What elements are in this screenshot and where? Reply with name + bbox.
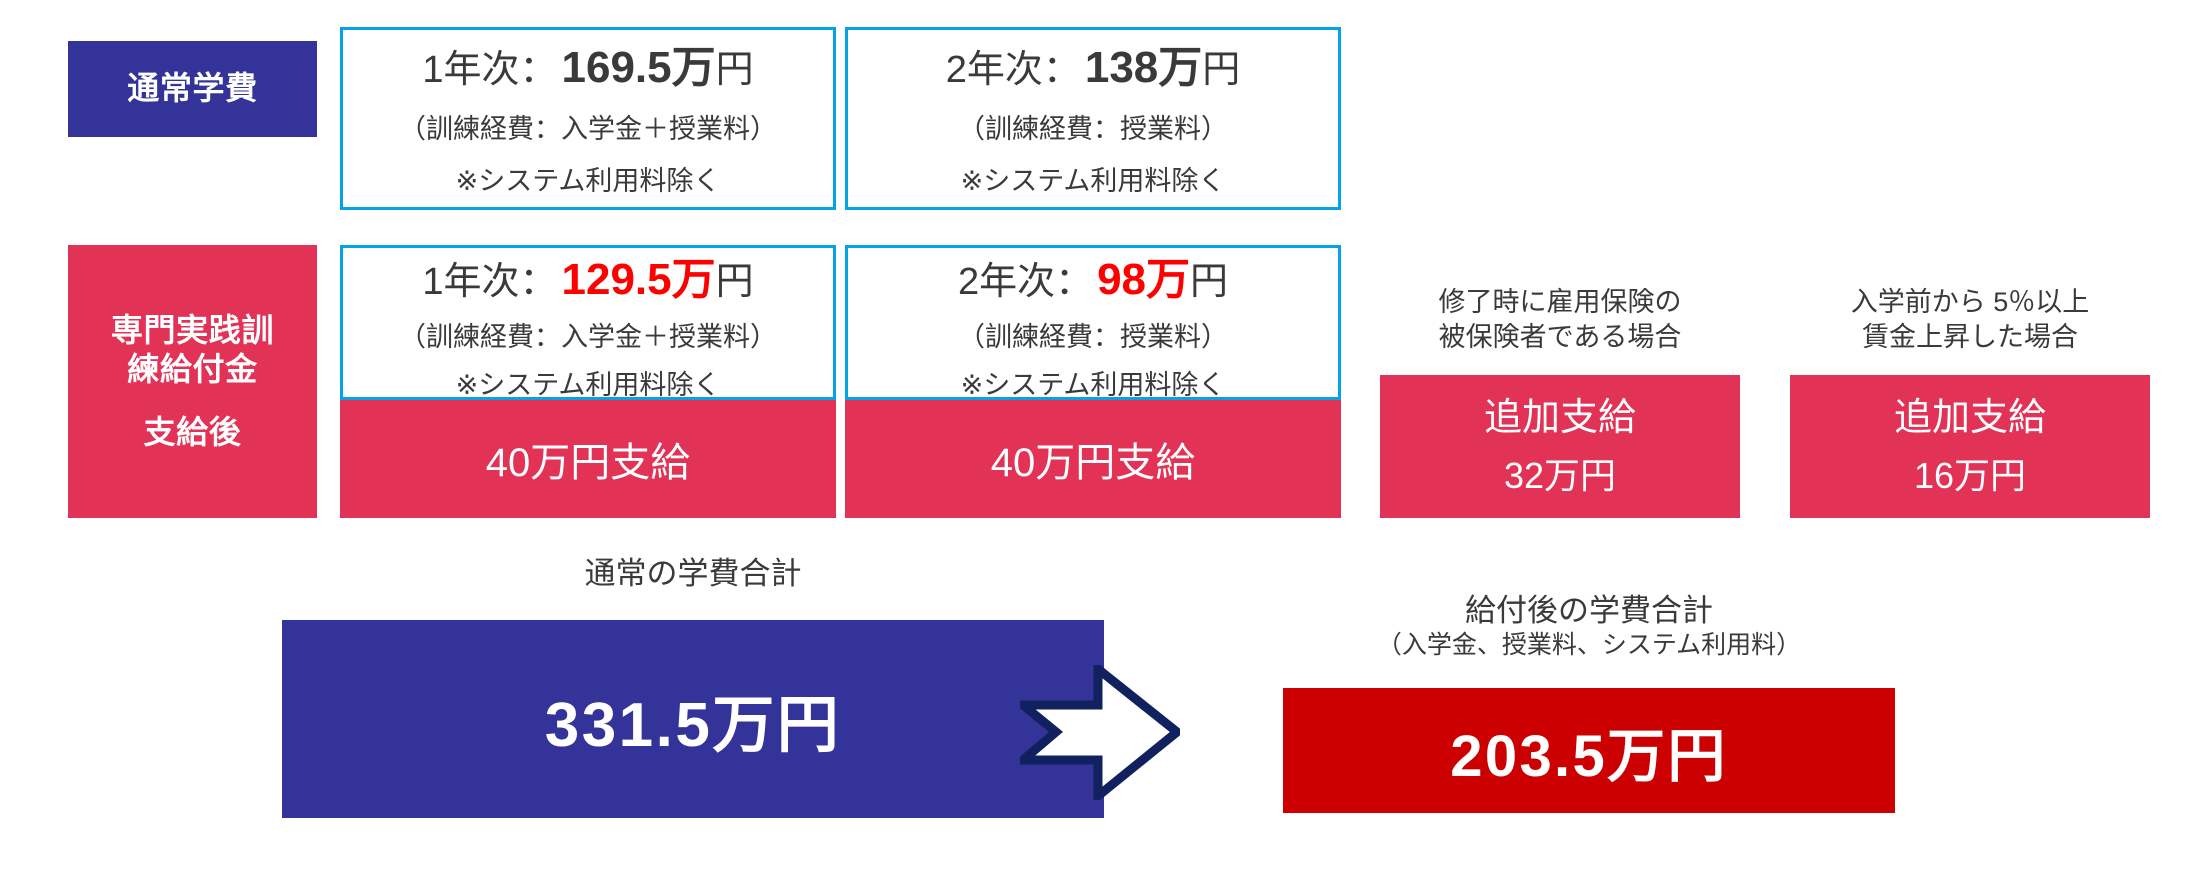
total-caption-before-text: 通常の学費合計 [585, 556, 802, 591]
right-arrow-icon [1020, 665, 1180, 800]
fee-card-headline: 1年次：169.5万円 [422, 46, 753, 90]
bonus-caption-wage-increase: 入学前から 5％以上 賃金上昇した場合 [1790, 285, 2150, 355]
total-caption-after: 給付後の学費合計 （入学金、授業料、システム利用料） [1283, 592, 1895, 660]
fee-exclusion-note: ※システム利用料除く [961, 372, 1226, 399]
fee-yen-unit: 円 [1202, 51, 1240, 89]
bonus-caption-employment-insurance: 修了時に雇用保険の 被保険者である場合 [1380, 285, 1740, 355]
fee-breakdown-text: （訓練経費：授業料） [958, 324, 1228, 351]
fee-year-label: 1年次： [422, 51, 557, 89]
row-label-line: 練給付金 [127, 350, 258, 389]
fee-year-label: 2年次： [958, 263, 1093, 301]
fee-card-headline: 2年次：138万円 [946, 46, 1241, 90]
fee-exclusion-note: ※システム利用料除く [456, 372, 721, 399]
subsidy-bar-year1: 40万円支給 [340, 400, 836, 518]
total-box-after: 203.5万円 [1283, 688, 1895, 813]
fee-amount: 129.5万 [562, 258, 716, 302]
total-caption-after-subtext: （入学金、授業料、システム利用料） [1283, 630, 1895, 661]
fee-yen-unit: 円 [1190, 263, 1228, 301]
row-label-normal-tuition: 通常学費 [68, 41, 317, 137]
bonus-title: 追加支給 [1484, 397, 1636, 441]
fee-card-headline: 2年次：98万円 [958, 258, 1228, 302]
fee-yen-unit: 円 [716, 51, 754, 89]
row-label-line: 支給後 [144, 413, 242, 452]
bonus-amount: 16万円 [1914, 455, 2026, 496]
fee-card-year2-subsidized: 2年次：98万円 （訓練経費：授業料） ※システム利用料除く [845, 245, 1341, 400]
row-label-line: 専門実践訓 [111, 311, 274, 350]
total-caption-after-text: 給付後の学費合計 [1465, 593, 1713, 628]
fee-breakdown-text: （訓練経費：授業料） [958, 116, 1228, 143]
fee-breakdown-text: （訓練経費：入学金＋授業料） [399, 324, 777, 351]
fee-amount: 98万 [1097, 258, 1190, 302]
row-label-line: 通常学費 [127, 69, 258, 108]
fee-card-year2-normal: 2年次：138万円 （訓練経費：授業料） ※システム利用料除く [845, 27, 1341, 210]
fee-breakdown-text: （訓練経費：入学金＋授業料） [399, 116, 777, 143]
bonus-title: 追加支給 [1894, 397, 2046, 441]
fee-exclusion-note: ※システム利用料除く [456, 168, 721, 195]
bonus-caption-line1: 修了時に雇用保険の [1380, 285, 1740, 320]
fee-comparison-diagram: 通常学費 1年次：169.5万円 （訓練経費：入学金＋授業料） ※システム利用料… [0, 0, 2186, 885]
bonus-caption-line2: 賃金上昇した場合 [1790, 320, 2150, 355]
row-label-after-subsidy: 専門実践訓 練給付金 支給後 [68, 245, 317, 518]
fee-exclusion-note: ※システム利用料除く [961, 168, 1226, 195]
fee-card-year1-normal: 1年次：169.5万円 （訓練経費：入学金＋授業料） ※システム利用料除く [340, 27, 836, 210]
fee-card-headline: 1年次：129.5万円 [422, 258, 753, 302]
fee-year-label: 2年次： [946, 51, 1081, 89]
bonus-box-employment-insurance: 追加支給 32万円 [1380, 375, 1740, 518]
bonus-caption-line2: 被保険者である場合 [1380, 320, 1740, 355]
total-box-before: 331.5万円 [282, 620, 1104, 818]
fee-year-label: 1年次： [422, 263, 557, 301]
fee-card-year1-subsidized: 1年次：129.5万円 （訓練経費：入学金＋授業料） ※システム利用料除く [340, 245, 836, 400]
fee-yen-unit: 円 [716, 263, 754, 301]
bonus-box-wage-increase: 追加支給 16万円 [1790, 375, 2150, 518]
total-caption-before: 通常の学費合計 [282, 555, 1104, 593]
bonus-amount: 32万円 [1504, 455, 1616, 496]
fee-amount: 169.5万 [562, 46, 716, 90]
fee-amount: 138万 [1085, 46, 1202, 90]
subsidy-bar-year2: 40万円支給 [845, 400, 1341, 518]
bonus-caption-line1: 入学前から 5％以上 [1790, 285, 2150, 320]
